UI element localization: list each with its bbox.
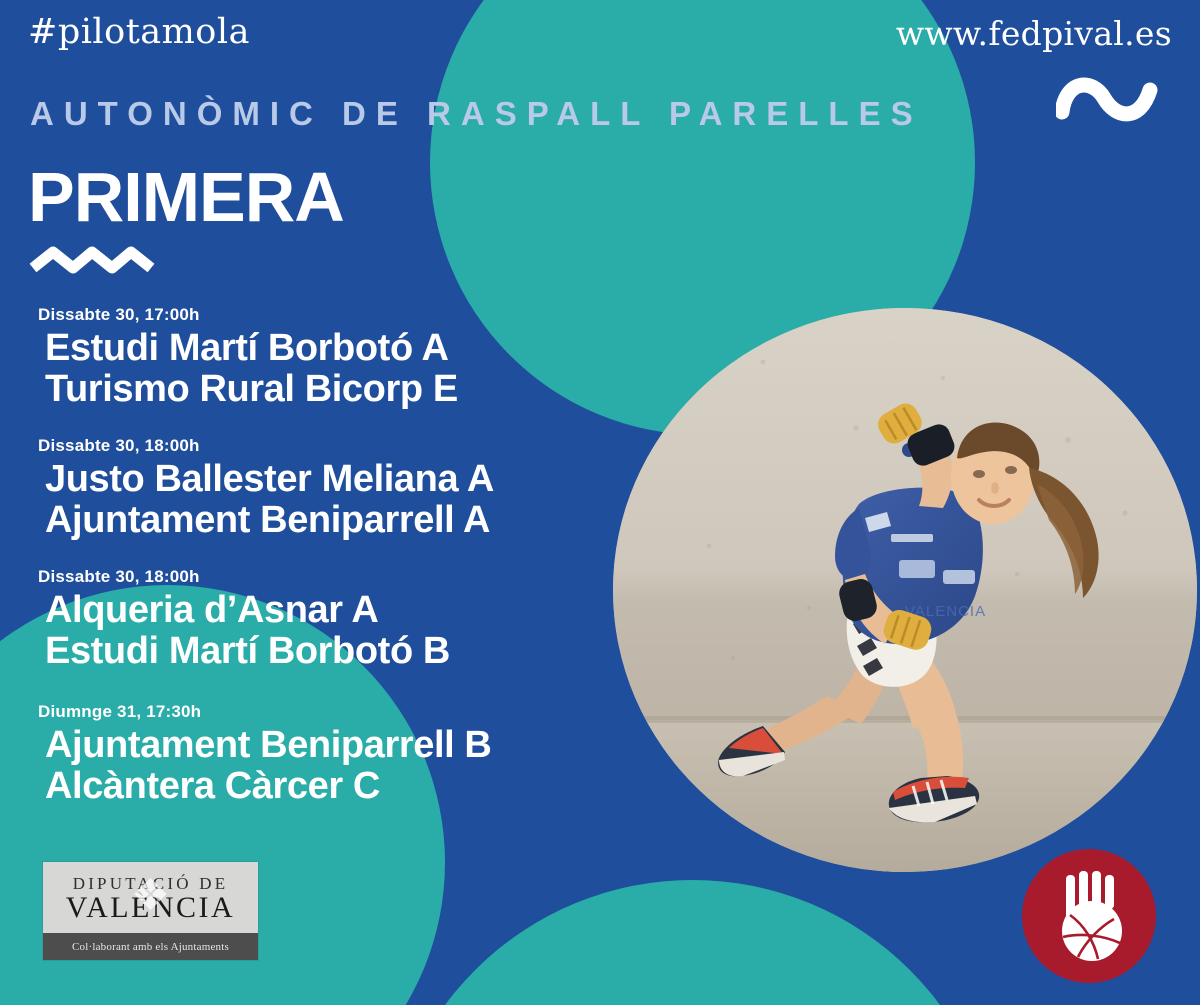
match-team-home: Justo Ballester Meliana A bbox=[38, 459, 638, 500]
diputacio-line1: DIPUTACIÓ DE bbox=[73, 875, 229, 892]
diputacio-logo-body: ❖ DIPUTACIÓ DE VALÈNCIA bbox=[43, 862, 258, 933]
match-item: Dissabte 30, 18:00h Justo Ballester Meli… bbox=[38, 436, 638, 541]
decorative-circle-bottom bbox=[385, 880, 1000, 1005]
match-list: Dissabte 30, 17:00h Estudi Martí Borbotó… bbox=[38, 305, 638, 830]
match-team-home: Estudi Martí Borbotó A bbox=[38, 328, 638, 369]
zigzag-divider-icon bbox=[28, 243, 156, 277]
diputacio-valencia-logo: ❖ DIPUTACIÓ DE VALÈNCIA Col·laborant amb… bbox=[43, 862, 258, 960]
match-item: Dissabte 30, 18:00h Alqueria d’Asnar A E… bbox=[38, 567, 638, 672]
player-photo: VALENCIA bbox=[613, 308, 1197, 872]
tilde-wave-logo-icon bbox=[1056, 72, 1164, 130]
match-team-away: Alcàntera Càrcer C bbox=[38, 766, 638, 807]
category-title: PRIMERA bbox=[28, 162, 344, 232]
diputacio-tagline-bar: Col·laborant amb els Ajuntaments bbox=[43, 933, 258, 960]
match-date: Dissabte 30, 17:00h bbox=[38, 305, 638, 325]
match-team-home: Ajuntament Beniparrell B bbox=[38, 725, 638, 766]
diputacio-line2: VALÈNCIA bbox=[66, 892, 235, 924]
poster-canvas: #pilotamola www.fedpival.es AUTONÒMIC DE… bbox=[0, 0, 1200, 1005]
diputacio-tagline: Col·laborant amb els Ajuntaments bbox=[72, 941, 229, 953]
match-team-away: Turismo Rural Bicorp E bbox=[38, 369, 638, 410]
federation-badge bbox=[1022, 849, 1156, 983]
hashtag-label: #pilotamola bbox=[28, 12, 250, 52]
match-item: Dissabte 30, 17:00h Estudi Martí Borbotó… bbox=[38, 305, 638, 410]
match-date: Dissabte 30, 18:00h bbox=[38, 567, 638, 587]
match-team-away: Ajuntament Beniparrell A bbox=[38, 500, 638, 541]
website-url: www.fedpival.es bbox=[896, 14, 1172, 53]
match-date: Diumnge 31, 17:30h bbox=[38, 702, 638, 722]
match-date: Dissabte 30, 18:00h bbox=[38, 436, 638, 456]
match-item: Diumnge 31, 17:30h Ajuntament Beniparrel… bbox=[38, 702, 638, 807]
competition-subtitle: AUTONÒMIC DE RASPALL PARELLES bbox=[30, 95, 923, 133]
match-team-home: Alqueria d’Asnar A bbox=[38, 590, 638, 631]
match-team-away: Estudi Martí Borbotó B bbox=[38, 631, 638, 672]
